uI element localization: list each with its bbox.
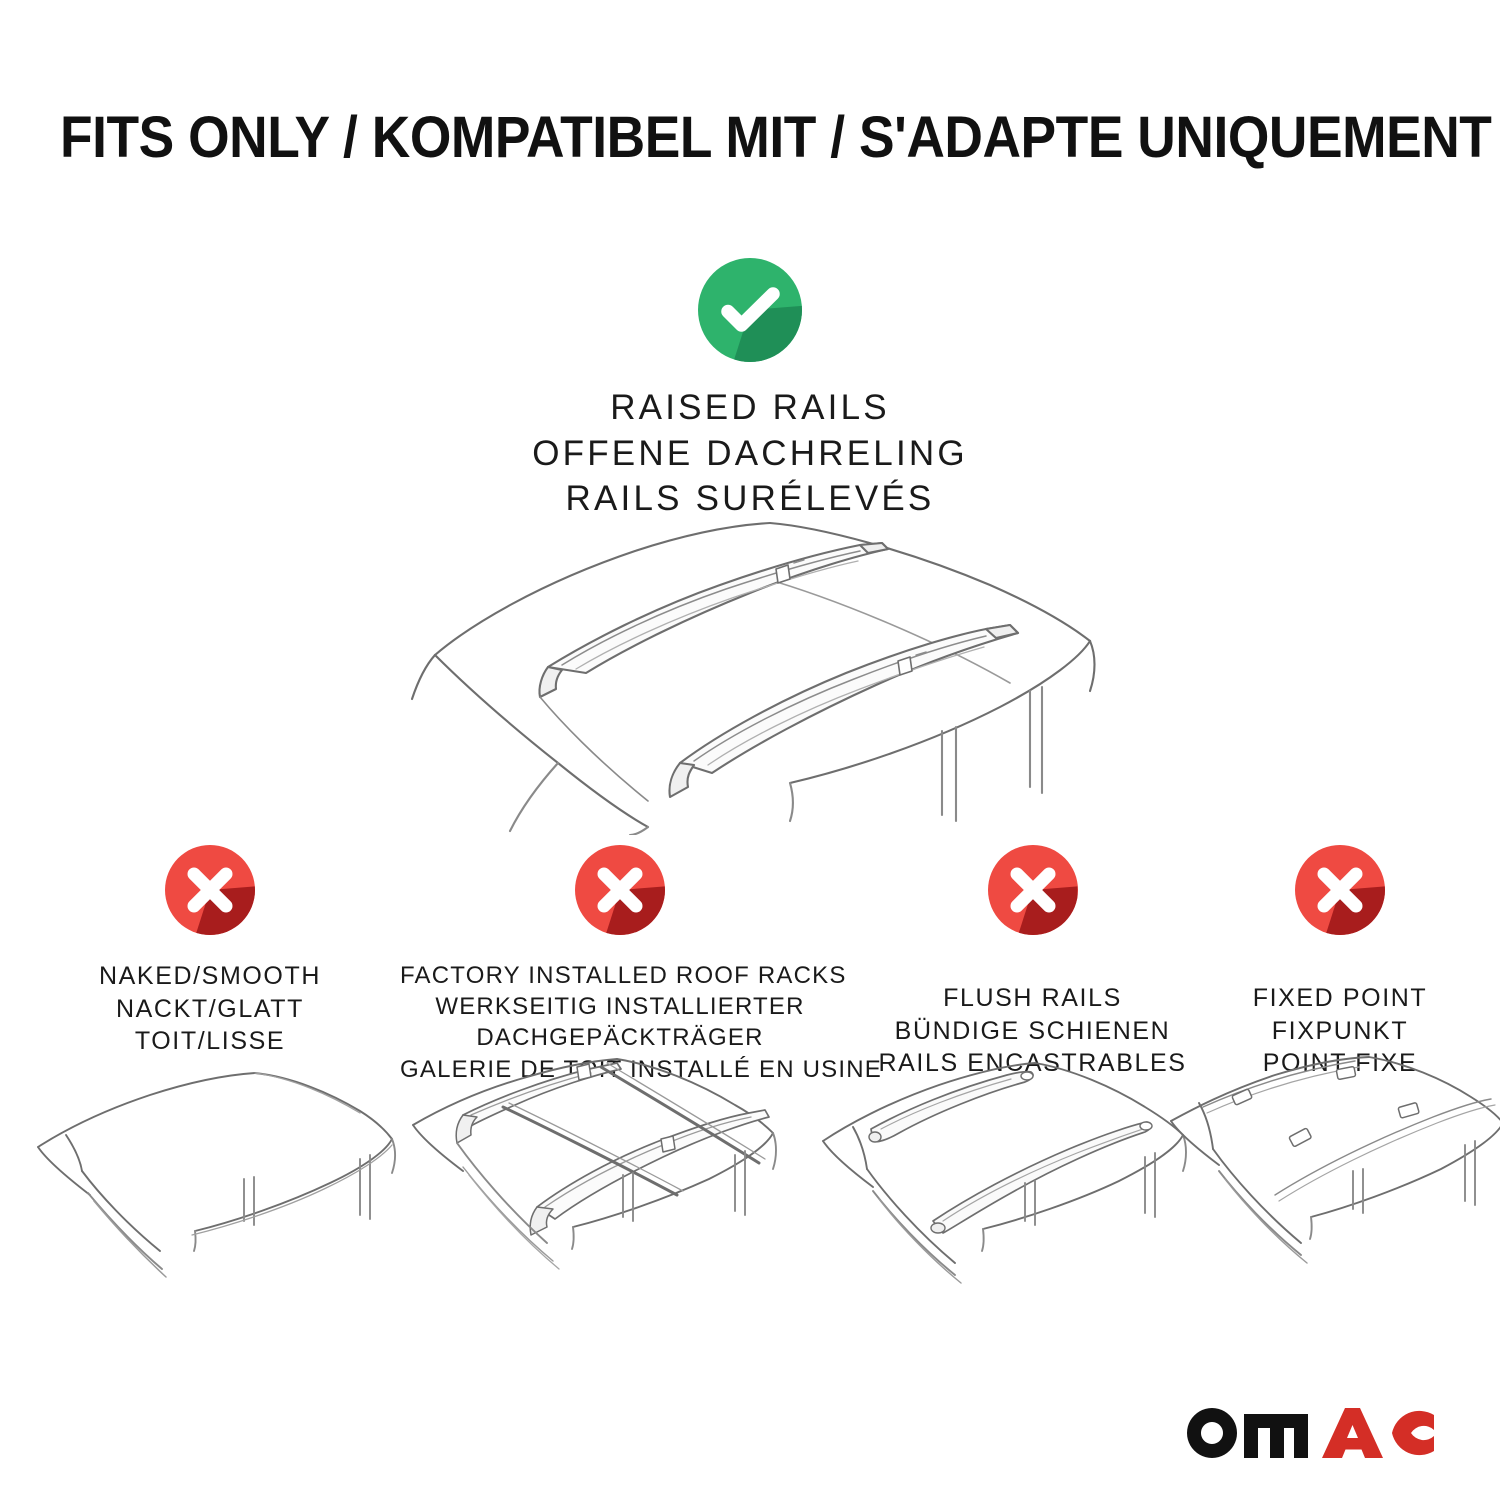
x-circle-icon [165, 845, 255, 935]
x-circle-icon [988, 845, 1078, 935]
compatible-label-de: OFFENE DACHRELING [0, 431, 1500, 477]
check-circle-icon [698, 258, 802, 362]
incompatible-label-de: NACKT/GLATT [35, 993, 385, 1026]
compatible-label-en: RAISED RAILS [0, 385, 1500, 431]
x-circle-icon [575, 845, 665, 935]
compatible-section: RAISED RAILS OFFENE DACHRELING RAILS SUR… [0, 258, 1500, 522]
incompatible-label-en: NAKED/SMOOTH [35, 960, 385, 993]
omac-logo [1182, 1402, 1442, 1464]
roof-illustration-row [0, 1055, 1500, 1305]
incompatible-label-en: FACTORY INSTALLED ROOF RACKS [400, 960, 840, 991]
car-roof-naked-smooth-illustration [30, 1055, 400, 1295]
incompatible-label-de-1: WERKSEITIG INSTALLIERTER [400, 991, 840, 1022]
incompatible-section-naked-smooth: NAKED/SMOOTH NACKT/GLATT TOIT/LISSE [35, 845, 385, 1058]
incompatible-label-en: FIXED POINT [1215, 982, 1465, 1015]
page-title: FITS ONLY / KOMPATIBEL MIT / S'ADAPTE UN… [60, 104, 1440, 171]
incompatible-labels: NAKED/SMOOTH NACKT/GLATT TOIT/LISSE [35, 960, 385, 1058]
incompatible-label-en: FLUSH RAILS [855, 982, 1210, 1015]
car-roof-fixed-point-illustration [1165, 1055, 1500, 1295]
incompatible-label-de-2: DACHGEPÄCKTRÄGER [400, 1022, 840, 1053]
compatible-labels: RAISED RAILS OFFENE DACHRELING RAILS SUR… [0, 385, 1500, 522]
incompatible-label-de: BÜNDIGE SCHIENEN [855, 1015, 1210, 1048]
compatibility-infographic: FITS ONLY / KOMPATIBEL MIT / S'ADAPTE UN… [0, 0, 1500, 1500]
car-roof-raised-rails-illustration [390, 505, 1130, 835]
car-roof-factory-roof-racks-illustration [405, 1055, 785, 1295]
incompatible-section-flush-rails: FLUSH RAILS BÜNDIGE SCHIENEN RAILS ENCAS… [855, 845, 1210, 1080]
incompatible-label-fr: TOIT/LISSE [35, 1025, 385, 1058]
incompatible-section-factory-roof-racks: FACTORY INSTALLED ROOF RACKS WERKSEITIG … [400, 845, 840, 1085]
car-roof-flush-rails-illustration [815, 1055, 1195, 1295]
x-circle-icon [1295, 845, 1385, 935]
incompatible-label-de: FIXPUNKT [1215, 1015, 1465, 1048]
incompatible-section-fixed-point: FIXED POINT FIXPUNKT POINT FIXE [1215, 845, 1465, 1080]
